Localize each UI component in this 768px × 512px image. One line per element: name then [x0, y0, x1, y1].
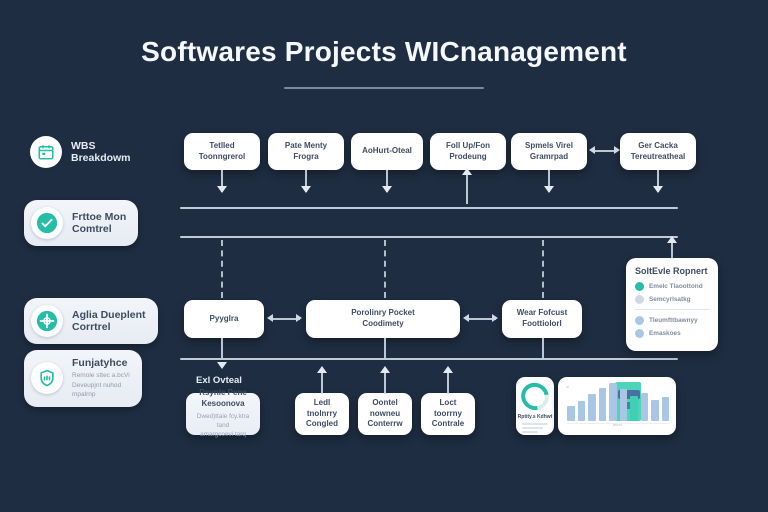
bar-chart-widget[interactable]: ul aunn — [558, 377, 676, 435]
sidebar-item-funjatyhce[interactable]: Funjatyhce Remole sttec a.bcVi Deveupjnt… — [24, 350, 142, 407]
legend-dot-icon — [635, 282, 644, 291]
connector-dash-2 — [384, 240, 386, 298]
legend-dot-icon — [635, 316, 644, 325]
flow-node-top-1[interactable]: Tetlled Toonngrerol — [184, 133, 260, 170]
legend-item-3[interactable]: Emaskoes — [635, 329, 710, 338]
legend-dot-icon — [635, 295, 644, 304]
flow-node-mid-3[interactable]: Wear Fofcust Foottiolorl — [502, 300, 582, 338]
legend-item-1[interactable]: Semcyrlsatkg — [635, 295, 710, 304]
shield-icon — [31, 362, 63, 394]
arrowhead-down-2 — [301, 186, 311, 193]
connector-mid-drop-3 — [542, 338, 544, 358]
legend-item-2[interactable]: Tleumfttbawnyy — [635, 316, 710, 325]
arrowhead-left-mid-2 — [463, 314, 469, 322]
flow-node-mid-2[interactable]: Porolinry Pocket Coodimety — [306, 300, 460, 338]
connector-dash-3 — [542, 240, 544, 298]
flow-node-bottom-1[interactable]: Rsynle Pene Kesoonova Dwed)ttaie fcy.ktr… — [186, 393, 260, 435]
chart-bar — [641, 393, 649, 422]
donut-chart-icon — [516, 377, 554, 415]
chart-xlabel: aunn — [613, 422, 622, 427]
arrowhead-left-mid-1 — [267, 314, 273, 322]
connector-bottom-up-3 — [384, 372, 386, 394]
arrowhead-down-6 — [653, 186, 663, 193]
chart-bars — [567, 383, 669, 421]
diagram-canvas: Softwares Projects WICnanagement WBS Bre… — [0, 0, 768, 512]
arrowhead-right-mid-1 — [296, 314, 302, 322]
connector-bottom-up-4 — [447, 372, 449, 394]
bar-chart-plot: ul aunn — [567, 384, 669, 426]
flow-node-mid-1[interactable]: Pyyglra — [184, 300, 264, 338]
flow-node-top-2[interactable]: Pate Menty Frogra — [268, 133, 344, 170]
legend-dot-icon — [635, 329, 644, 338]
arrowhead-down-stage — [217, 362, 227, 369]
rail-top — [180, 207, 678, 209]
chart-bar — [662, 397, 670, 421]
stage-label: Exl Ovteal — [196, 375, 242, 386]
compass-plus-icon — [31, 305, 63, 337]
arrowhead-up-legend — [667, 236, 677, 243]
legend-title: SoltEvle Ropnert — [635, 266, 710, 276]
connector-mid-drop-1 — [221, 338, 223, 358]
flow-node-bottom-2[interactable]: Ledl tnolnrry Congled — [295, 393, 349, 435]
chart-bar — [588, 394, 596, 421]
sidebar-item-funjatyhce-sub: Remole sttec a.bcVi Deveupjnt nuhod mpal… — [72, 371, 130, 399]
connector-mid-drop-2 — [384, 338, 386, 358]
donut-widget[interactable]: Rptity.s Kdhwt — [516, 377, 554, 435]
arrowhead-left-top — [589, 146, 595, 154]
flow-node-top-6[interactable]: Ger Cacka Tereutreatheal — [620, 133, 696, 170]
arrowhead-right-mid-2 — [492, 314, 498, 322]
chart-bar — [630, 396, 638, 421]
sidebar-item-frttoe-mon-text: Frttoe Mon Comtrel — [72, 211, 126, 236]
arrowhead-up-bottom-2 — [317, 366, 327, 373]
arrowhead-up-bottom-3 — [380, 366, 390, 373]
sidebar-item-aglia-dueplent[interactable]: Aglia Dueplent Corrtrel — [24, 298, 158, 344]
flow-node-top-4[interactable]: Foll Up/Fon Prodeung — [430, 133, 506, 170]
arrowhead-down-1 — [217, 186, 227, 193]
legend-card[interactable]: SoltEvle Ropnert Emelc Tlaoottond Semcyr… — [626, 258, 718, 351]
flow-node-bottom-1-sub: Dwed)ttaie fcy.ktra tand amargcoevi tarq — [191, 412, 255, 440]
arrowhead-right-top — [614, 146, 620, 154]
chart-bar — [620, 389, 628, 421]
legend-divider — [635, 309, 710, 310]
chart-bar — [609, 383, 617, 421]
sidebar-item-wbs[interactable]: WBS Breakdowm — [24, 129, 137, 175]
arrowhead-down-3 — [382, 186, 392, 193]
connector-dash-1 — [221, 240, 223, 298]
page-title: Softwares Projects WICnanagement — [0, 36, 768, 68]
calendar-clipboard-icon — [30, 136, 62, 168]
legend-item-0[interactable]: Emelc Tlaoottond — [635, 282, 710, 291]
donut-placeholder-lines — [522, 423, 548, 435]
arrowhead-down-5 — [544, 186, 554, 193]
sidebar-item-wbs-text: WBS Breakdowm — [71, 140, 131, 165]
rail-middle — [180, 236, 678, 238]
title-divider — [284, 87, 484, 89]
chart-bar — [567, 406, 575, 421]
flow-node-top-3[interactable]: AoHurt-Oteal — [351, 133, 423, 170]
flow-node-bottom-4[interactable]: Loct toorrny Contrale — [421, 393, 475, 435]
chart-bar — [651, 400, 659, 421]
connector-up-4 — [466, 172, 468, 204]
connector-top-5-6 — [592, 150, 616, 152]
arrowhead-up-bottom-4 — [443, 366, 453, 373]
flow-node-top-5[interactable]: Spmels Virel Gramrpad — [511, 133, 587, 170]
leaf-check-icon — [31, 207, 63, 239]
chart-bar — [578, 401, 586, 421]
chart-bar — [599, 388, 607, 421]
donut-caption: Rptity.s Kdhwt — [518, 414, 553, 420]
connector-legend — [671, 240, 673, 260]
flow-node-bottom-3[interactable]: Oontel nowneu Conterrw — [358, 393, 412, 435]
sidebar-item-funjatyhce-text: Funjatyhce Remole sttec a.bcVi Deveupjnt… — [72, 357, 130, 400]
rail-bottom — [180, 358, 678, 360]
sidebar-item-frttoe-mon[interactable]: Frttoe Mon Comtrel — [24, 200, 138, 246]
connector-bottom-up-2 — [321, 372, 323, 394]
sidebar-item-aglia-text: Aglia Dueplent Corrtrel — [72, 309, 146, 334]
arrowhead-up-4 — [462, 168, 472, 175]
